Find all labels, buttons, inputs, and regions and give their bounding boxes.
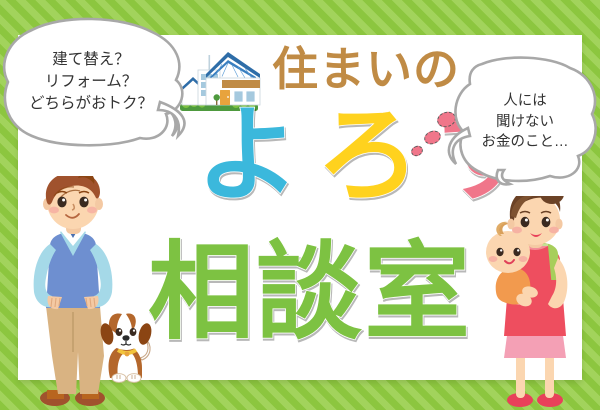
dog-sitting-illustration bbox=[98, 312, 160, 389]
bubble-left-line-1: 建て替え？ bbox=[52, 49, 130, 71]
subtitle-char-sou: 相 bbox=[148, 240, 254, 346]
question-bubble-right-text: 人には 聞けない お金のこと… bbox=[442, 58, 600, 186]
woman-holding-baby-illustration bbox=[478, 196, 588, 410]
bubble-right-line-2: 聞けない bbox=[496, 112, 554, 133]
subtitle-char-dan: 談 bbox=[256, 240, 362, 346]
page-title-subtitle: 相 談 室 bbox=[148, 240, 470, 346]
bubble-left-line-3: どちらがおトク？ bbox=[29, 93, 153, 115]
subtitle-char-shitsu: 室 bbox=[364, 240, 470, 346]
page-title-prefix: 住まいの bbox=[272, 46, 460, 92]
bubble-right-line-1: 人には bbox=[503, 91, 547, 112]
title-char-ro: ろ bbox=[316, 108, 420, 204]
bubble-left-line-2: リフォーム？ bbox=[45, 71, 138, 93]
question-bubble-left: 建て替え？ リフォーム？ どちらがおトク？ bbox=[2, 18, 192, 146]
question-bubble-left-text: 建て替え？ リフォーム？ どちらがおトク？ bbox=[2, 18, 192, 146]
question-bubble-right: 人には 聞けない お金のこと… bbox=[442, 58, 600, 186]
title-char-yo: よ bbox=[196, 108, 300, 204]
banner-stage: 住まいの よ ろ す 相 談 室 建て替え？ リフォーム？ どちらがおトク？ bbox=[0, 0, 600, 410]
bubble-right-line-3: お金のこと… bbox=[482, 132, 569, 153]
